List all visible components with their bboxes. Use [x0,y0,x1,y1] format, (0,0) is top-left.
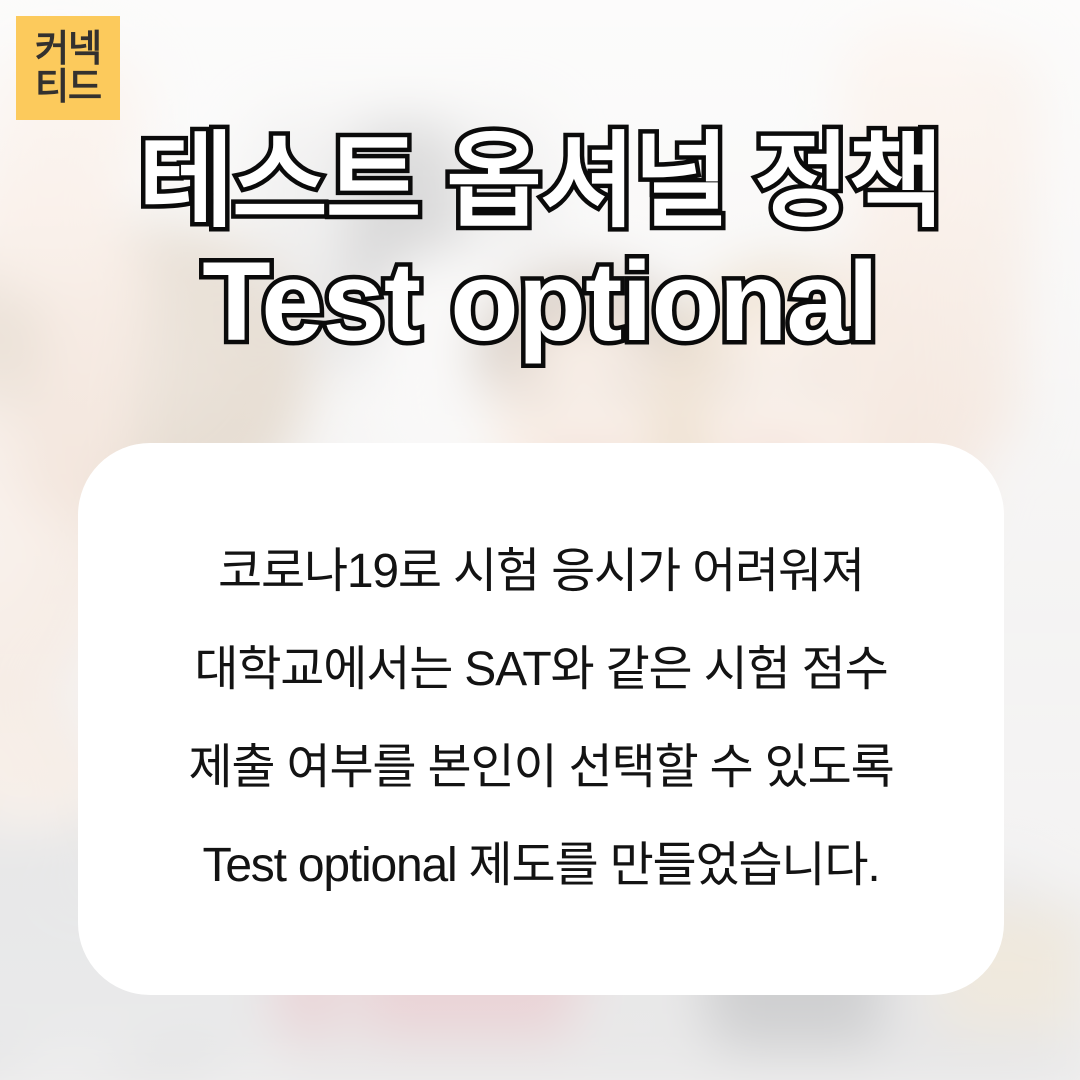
description-line-3: 제출 여부를 본인이 선택할 수 있도록 [108,744,974,792]
description-line-1: 코로나19로 시험 응시가 어려워져 [108,548,974,596]
brand-logo-badge[interactable]: 커넥 티드 [16,16,120,120]
description-line-4: Test optional 제도를 만들었습니다. [108,842,974,890]
brand-logo-line-1: 커넥 [35,30,101,68]
brand-logo-line-2: 티드 [35,68,101,106]
description-card: 코로나19로 시험 응시가 어려워져 대학교에서는 SAT와 같은 시험 점수 … [78,443,1004,995]
social-card-canvas: 커넥 티드 테스트 옵셔널 정책 Test optional 코로나19로 시험… [0,0,1080,1080]
description-line-2: 대학교에서는 SAT와 같은 시험 점수 [108,646,974,694]
